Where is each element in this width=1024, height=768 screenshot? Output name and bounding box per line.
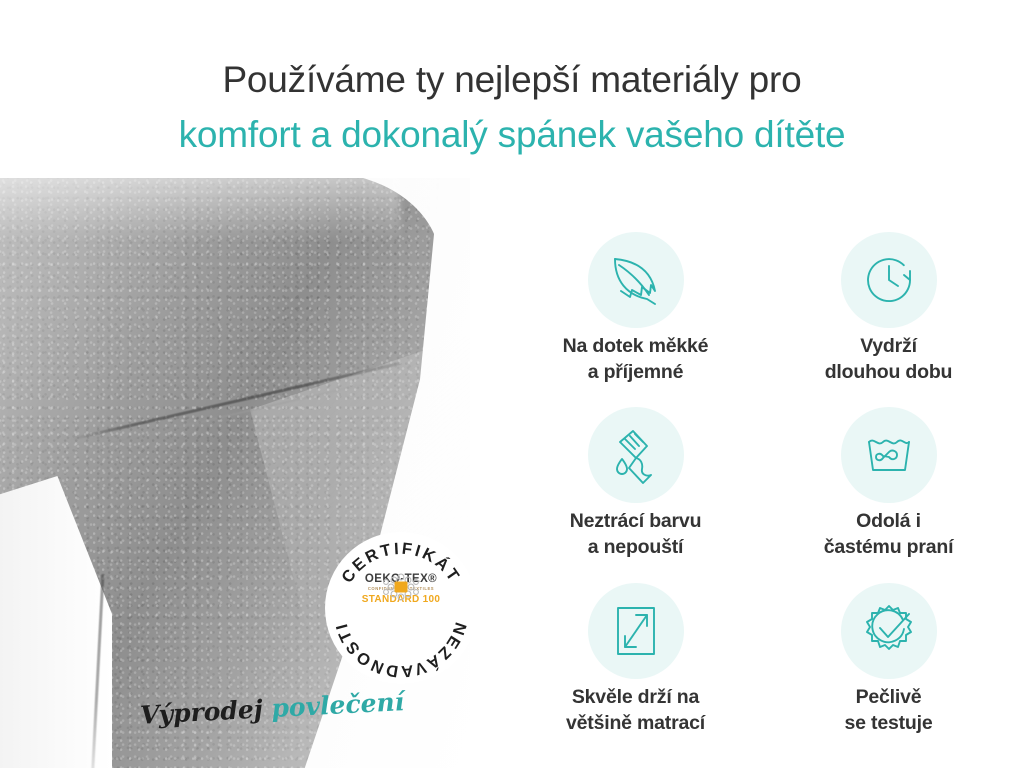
feature-item-fit: Skvěle drží na většině matrací [512,583,759,736]
feature-label-washable-line2: častému praní [765,535,1012,561]
fabric-top-highlight [0,178,400,242]
headline-line-2: komfort a dokonalý spánek vašeho dítěte [0,111,1024,158]
svg-text:NEZÁVADNOSTI: NEZÁVADNOSTI [333,620,470,680]
feature-label-soft: Na dotek měkké a příjemné [512,334,759,385]
feature-label-soft-line2: a příjemné [512,360,759,386]
leaf-feather-icon [588,232,684,328]
promo-banner: Používáme ty nejlepší materiály pro komf… [0,0,1024,768]
feature-label-fit-line1: Skvěle drží na [512,685,759,711]
feature-label-tested-line1: Pečlivě [765,685,1012,711]
feature-label-washable-line1: Odolá i [765,509,1012,535]
feature-label-durable: Vydrží dlouhou dobu [765,334,1012,385]
feature-label-durable-line2: dlouhou dobu [765,360,1012,386]
wash-tub-infinity-icon [841,407,937,503]
feature-grid: Na dotek měkké a příjemné Vydrží dlouhou… [512,232,1012,736]
feature-item-soft: Na dotek měkké a příjemné [512,232,759,385]
feature-label-colorfast-line1: Neztrácí barvu [512,509,759,535]
headline-line-1: Používáme ty nejlepší materiály pro [0,56,1024,103]
clock-history-icon [841,232,937,328]
certificate-badge: CERTIFIKÁT NEZÁVADNOSTI [325,532,477,684]
feature-label-washable: Odolá i častému praní [765,509,1012,560]
feature-label-colorfast: Neztrácí barvu a nepouští [512,509,759,560]
feature-label-colorfast-line2: a nepouští [512,535,759,561]
feature-label-tested-line2: se testuje [765,711,1012,737]
feature-item-colorfast: Neztrácí barvu a nepouští [512,407,759,560]
feature-label-fit: Skvěle drží na většině matrací [512,685,759,736]
certificate-arc-text: CERTIFIKÁT NEZÁVADNOSTI [325,532,477,684]
paintbrush-drop-icon [588,407,684,503]
feature-label-durable-line1: Vydrží [765,334,1012,360]
certified-check-badge-icon [841,583,937,679]
feature-label-tested: Pečlivě se testuje [765,685,1012,736]
feature-item-washable: Odolá i častému praní [765,407,1012,560]
feature-item-tested: Pečlivě se testuje [765,583,1012,736]
feature-label-fit-line2: většině matrací [512,711,759,737]
page-title: Používáme ty nejlepší materiály pro komf… [0,56,1024,159]
certificate-core: OEKO-TEX® CONFIDENCE IN TEXTILES STANDAR… [325,572,477,605]
stretch-arrow-icon [588,583,684,679]
certificate-arc-bottom: NEZÁVADNOSTI [333,620,470,680]
oeko-tex-flower-icon [379,572,423,602]
feature-item-durable: Vydrží dlouhou dobu [765,232,1012,385]
feature-label-soft-line1: Na dotek měkké [512,334,759,360]
